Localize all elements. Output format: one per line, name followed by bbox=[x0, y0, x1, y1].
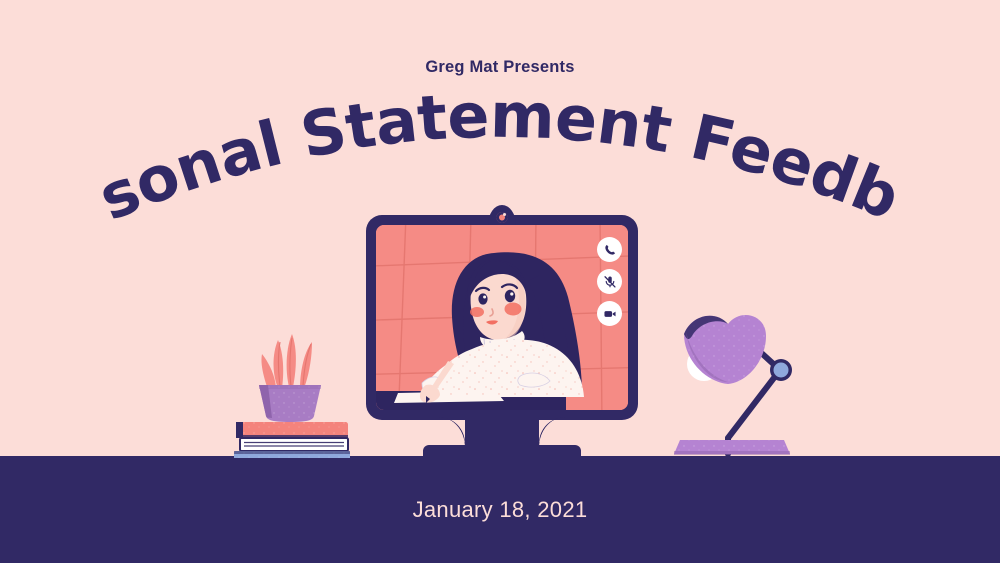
slide-canvas: Greg Mat Presents Personal Statement Fee… bbox=[0, 0, 1000, 563]
video-call-screen bbox=[376, 225, 628, 410]
plant-and-books bbox=[232, 330, 352, 458]
webcam-icon bbox=[488, 205, 516, 225]
monitor-bezel bbox=[366, 215, 638, 420]
desktop-monitor bbox=[366, 205, 638, 455]
video-call-controls[interactable] bbox=[597, 237, 622, 326]
presenter-line: Greg Mat Presents bbox=[0, 58, 1000, 77]
event-date: January 18, 2021 bbox=[0, 497, 1000, 523]
mute-microphone-button[interactable] bbox=[597, 269, 622, 294]
video-camera-button[interactable] bbox=[597, 301, 622, 326]
desk-lamp bbox=[662, 302, 802, 458]
monitor-base bbox=[423, 445, 581, 463]
call-phone-button[interactable] bbox=[597, 237, 622, 262]
page-title: Personal Statement Feedback bbox=[0, 86, 1000, 221]
